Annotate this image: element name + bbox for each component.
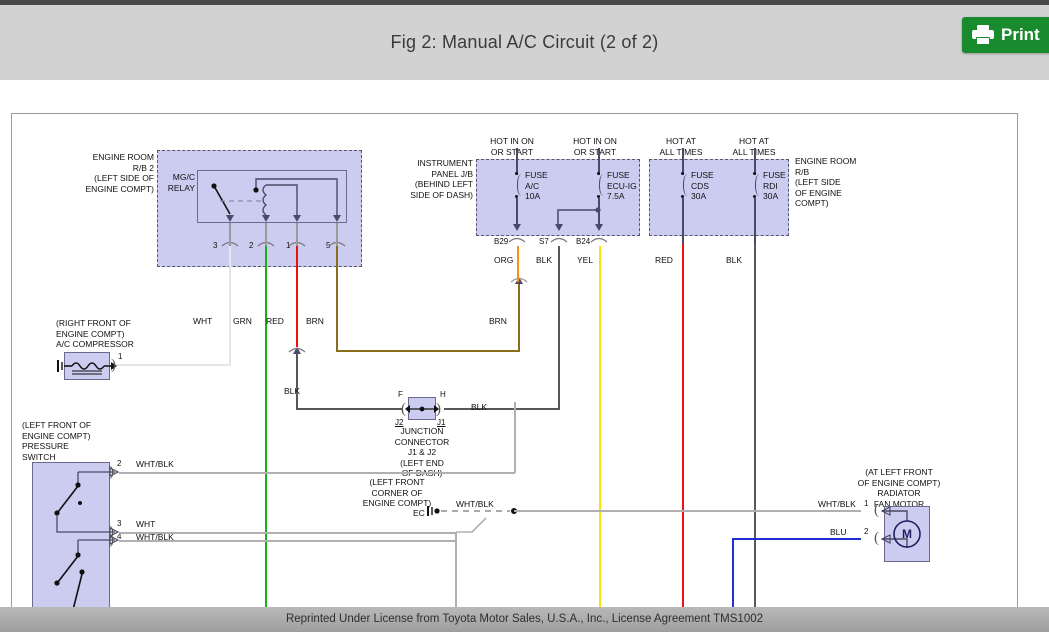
relay-lead-5 xyxy=(336,223,338,246)
ac-compressor-connector-cup: ) xyxy=(111,358,116,373)
instrument-panel-jb-label: INSTRUMENT PANEL J/B (BEHIND LEFT SIDE O… xyxy=(407,158,473,200)
wire-label-blk-left: BLK xyxy=(284,386,300,397)
wire-label-wht: WHT xyxy=(193,316,212,327)
fan-pin-1: 1 xyxy=(864,499,868,508)
fuse-cds-feed xyxy=(682,148,684,175)
fan-pin-2: 2 xyxy=(864,527,868,536)
wire-yel xyxy=(599,246,601,614)
radiator-fan-label: (AT LEFT FRONT OF ENGINE COMPT) RADIATOR… xyxy=(844,467,954,509)
pressure-switch-cup-4: ) xyxy=(109,533,114,548)
junction-pin-F: F xyxy=(398,390,403,399)
page-title: Fig 2: Manual A/C Circuit (2 of 2) xyxy=(0,32,1049,53)
wire-blk-vertical-left xyxy=(296,354,298,409)
wire-blu-vertical xyxy=(732,538,734,614)
wire-blk-rdi xyxy=(754,244,756,614)
relay-pin-1-number: 1 xyxy=(286,241,290,250)
junction-wire-color: BLK xyxy=(471,402,487,413)
print-button[interactable]: Print xyxy=(962,17,1049,53)
ac-compressor-label: (RIGHT FRONT OF ENGINE COMPT) A/C COMPRE… xyxy=(56,318,166,350)
wire-org xyxy=(517,246,519,282)
pressure-switch-pin-2: 2 xyxy=(117,459,121,468)
fuse-cds-wire-color: RED xyxy=(655,255,673,266)
relay-pin-5-number: 5 xyxy=(326,241,330,250)
wire-brn-horizontal xyxy=(336,350,520,352)
wire-blu-horizontal xyxy=(732,538,861,540)
mgc-relay-label: MG/C RELAY xyxy=(162,172,195,193)
fuse-rdi-name: FUSE RDI 30A xyxy=(763,170,786,202)
junction-cup-right: ) xyxy=(436,402,441,417)
wire-blk-s7 xyxy=(558,246,560,408)
wire-red-vertical xyxy=(296,246,298,347)
junction-connector-label: JUNCTION CONNECTOR J1 & J2 (LEFT END OF … xyxy=(372,426,472,479)
page-header: Fig 2: Manual A/C Circuit (2 of 2) Print xyxy=(0,5,1049,80)
wire-ec-to-fan xyxy=(514,510,861,512)
fuse-ecuig-feed xyxy=(598,148,600,175)
fuse-ecuig-name: FUSE ECU-IG 7.5A xyxy=(607,170,637,202)
fan-wire-color-2: BLU xyxy=(830,527,847,538)
fuse-ecuig-supply-label: HOT IN ON OR START xyxy=(560,136,630,157)
junction-connector-box xyxy=(408,397,436,420)
wire-ps4-down xyxy=(455,532,457,614)
wire-wht-horizontal xyxy=(116,364,231,366)
wire-ps3-run xyxy=(119,532,456,534)
pressure-switch-box xyxy=(32,462,110,614)
fan-cup-1: ( xyxy=(874,503,879,518)
pressure-switch-cup-2: ) xyxy=(109,465,114,480)
fuse-ac-pin-label: B29 xyxy=(494,237,508,246)
relay-pin-3-number: 3 xyxy=(213,241,217,250)
fuse-cds-supply-label: HOT AT ALL TIMES xyxy=(649,136,713,157)
fuse-ac-supply-label: HOT IN ON OR START xyxy=(477,136,547,157)
relay-lead-3 xyxy=(229,223,231,246)
junction-cup-left: ( xyxy=(401,402,406,417)
engine-room-rb-label: ENGINE ROOM R/B (LEFT SIDE OF ENGINE COM… xyxy=(795,156,885,209)
ec-location-label: (LEFT FRONT CORNER OF ENGINE COMPT) xyxy=(342,477,452,509)
fan-motor-symbol-text: M xyxy=(896,527,918,541)
wire-blk-horizontal-left xyxy=(296,408,402,410)
engine-room-rb2-label: ENGINE ROOM R/B 2 (LEFT SIDE OF ENGINE C… xyxy=(72,152,154,194)
print-button-label: Print xyxy=(1001,25,1040,45)
fuse-ac-arrow xyxy=(513,224,521,231)
ac-compressor-pin-number: 1 xyxy=(118,352,122,361)
fuse-ecuig-pin-label: B24 xyxy=(576,237,590,246)
wire-ps2-run xyxy=(119,472,515,474)
relay-pin5-arrow xyxy=(333,215,341,222)
ac-compressor-box xyxy=(64,352,110,380)
fuse-ecuig-arrow xyxy=(595,224,603,231)
relay-pin2-arrow xyxy=(262,215,270,222)
fuse-rdi-out xyxy=(754,198,756,244)
fuse-ecuig-out xyxy=(598,198,600,227)
wire-grn-vertical xyxy=(265,246,267,614)
pressure-switch-pin-3: 3 xyxy=(117,519,121,528)
junction-pin-H: H xyxy=(440,390,446,399)
wiring-diagram-canvas[interactable]: ENGINE ROOM R/B 2 (LEFT SIDE OF ENGINE C… xyxy=(11,113,1018,615)
fuse-ac-feed xyxy=(516,148,518,175)
wire-wht-vertical xyxy=(229,246,231,365)
relay-pin-2-number: 2 xyxy=(249,241,253,250)
wire-blk-s7-to-junction xyxy=(444,408,560,410)
wire-label-brn-left: BRN xyxy=(306,316,324,327)
wire-brn-vertical-left xyxy=(336,246,338,351)
wire-label-grn: GRN xyxy=(233,316,252,327)
s7-pin-label: S7 xyxy=(539,237,549,246)
fuse-rdi-wire-color: BLK xyxy=(726,255,742,266)
wire-ps4-run xyxy=(119,540,456,542)
wire-red-cds xyxy=(682,244,684,614)
printer-icon xyxy=(972,25,994,45)
relay-pin3-arrow xyxy=(226,215,234,222)
fan-cup-2: ( xyxy=(874,531,879,546)
mgc-relay-box xyxy=(197,170,347,223)
wire-label-brn-right: BRN xyxy=(489,316,507,327)
pressure-switch-wire-3: WHT xyxy=(136,519,155,530)
relay-lead-2 xyxy=(265,223,267,246)
ec-wire-color: WHT/BLK xyxy=(456,499,494,510)
red-ground-arrow xyxy=(293,347,301,354)
license-text: Reprinted Under License from Toyota Moto… xyxy=(0,613,1049,625)
pressure-switch-label: (LEFT FRONT OF ENGINE COMPT) PRESSURE SW… xyxy=(22,420,122,462)
fuse-ac-wire-color: ORG xyxy=(494,255,513,266)
pressure-switch-wire-2: WHT/BLK xyxy=(136,459,174,470)
wire-label-red: RED xyxy=(266,316,284,327)
fuse-cds-out xyxy=(682,198,684,244)
ec-name-label: EC xyxy=(413,508,425,519)
wire-ps2-up xyxy=(514,402,516,473)
fuse-ac-out xyxy=(516,198,518,227)
s7-arrow xyxy=(555,224,563,231)
wire-brn-vertical-right xyxy=(518,281,520,352)
wire-ps2-to-node xyxy=(514,402,516,404)
fuse-ac-name: FUSE A/C 10A xyxy=(525,170,548,202)
fuse-cds-name: FUSE CDS 30A xyxy=(691,170,714,202)
s7-wire-color: BLK xyxy=(536,255,552,266)
fuse-rdi-feed xyxy=(754,148,756,175)
fuse-ecuig-wire-color: YEL xyxy=(577,255,593,266)
relay-lead-1 xyxy=(296,223,298,246)
relay-pin1-arrow xyxy=(293,215,301,222)
